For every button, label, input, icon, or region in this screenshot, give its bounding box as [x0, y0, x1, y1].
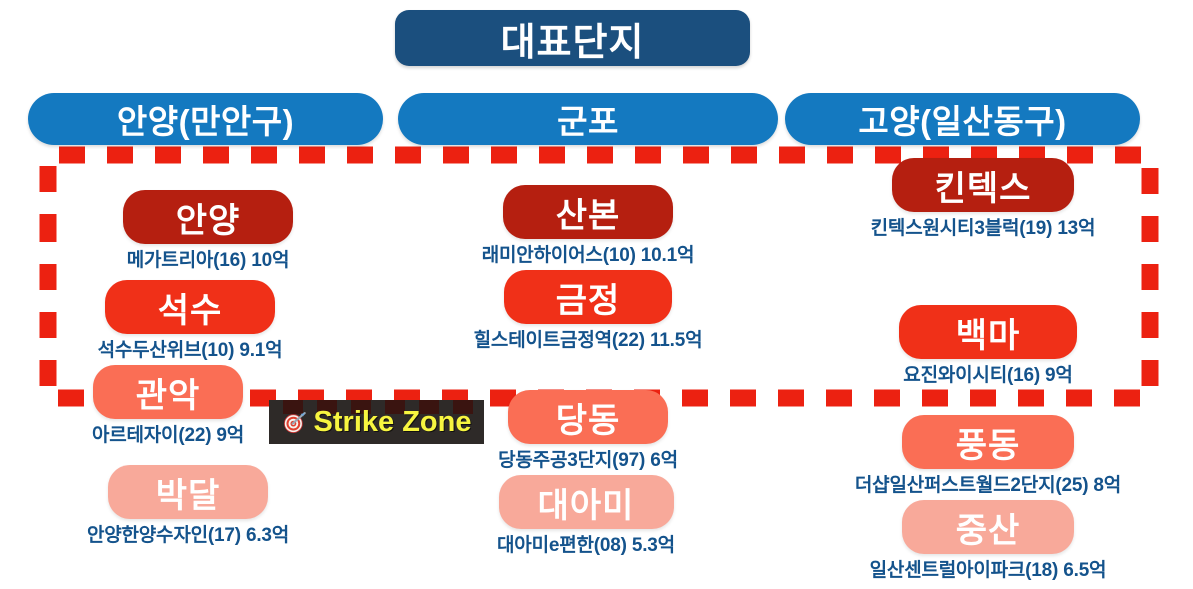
district-pill: 당동 — [508, 390, 668, 444]
district-label: 당동 — [556, 393, 621, 442]
district-pill: 중산 — [902, 500, 1074, 554]
entry-card: 킨텍스 킨텍스원시티3블럭(19) 13억 — [788, 158, 1168, 240]
entry-card: 금정 힐스테이트금정역(22) 11.5억 — [398, 270, 778, 352]
district-pill: 백마 — [899, 305, 1077, 359]
complex-caption: 안양한양수자인(17) 6.3억 — [87, 520, 289, 547]
complex-caption: 더샵일산퍼스트월드2단지(25) 8억 — [855, 470, 1121, 497]
district-pill: 킨텍스 — [892, 158, 1074, 212]
column-header-label: 고양(일산동구) — [858, 95, 1066, 143]
complex-caption: 메가트리아(16) 10억 — [127, 245, 289, 272]
complex-caption: 래미안하이어스(10) 10.1억 — [482, 240, 695, 267]
district-label: 석수 — [158, 283, 223, 332]
district-label: 킨텍스 — [935, 161, 1032, 210]
complex-caption: 힐스테이트금정역(22) 11.5억 — [474, 325, 703, 352]
district-pill: 금정 — [504, 270, 672, 324]
entry-card: 박달 안양한양수자인(17) 6.3억 — [18, 465, 398, 547]
complex-caption: 킨텍스원시티3블럭(19) 13억 — [871, 213, 1096, 240]
entry-card: 풍동 더샵일산퍼스트월드2단지(25) 8억 — [788, 415, 1168, 497]
page-title: 대표단지 — [395, 10, 750, 66]
columns-container: 안양 메가트리아(16) 10억 석수 석수두산위브(10) 9.1억 관악 아… — [0, 150, 1193, 589]
district-pill: 풍동 — [902, 415, 1074, 469]
complex-caption: 당동주공3단지(97) 6억 — [498, 445, 678, 472]
district-label: 대아미 — [538, 478, 635, 527]
complex-caption: 석수두산위브(10) 9.1억 — [98, 335, 283, 362]
entry-card: 석수 석수두산위브(10) 9.1억 — [18, 280, 398, 362]
complex-caption: 요진와이시티(16) 9억 — [903, 360, 1072, 387]
district-label: 풍동 — [956, 418, 1021, 467]
dart-target-icon — [282, 409, 308, 435]
entry-card: 안양 메가트리아(16) 10억 — [18, 190, 398, 272]
district-label: 박달 — [156, 468, 221, 517]
district-pill: 관악 — [93, 365, 243, 419]
entry-card: 산본 래미안하이어스(10) 10.1억 — [398, 185, 778, 267]
district-label: 산본 — [556, 188, 621, 237]
district-label: 백마 — [956, 308, 1021, 357]
district-label: 금정 — [556, 273, 621, 322]
district-label: 안양 — [176, 193, 241, 242]
complex-caption: 아르테자이(22) 9억 — [92, 420, 244, 447]
strike-zone-watermark: Strike Zone — [269, 400, 484, 444]
complex-caption: 대아미e편한(08) 5.3억 — [497, 530, 675, 557]
district-pill: 산본 — [503, 185, 673, 239]
district-label: 중산 — [956, 503, 1021, 552]
district-pill: 대아미 — [499, 475, 674, 529]
column-header-goyang: 고양(일산동구) — [785, 93, 1140, 145]
column-header-gunpo: 군포 — [398, 93, 778, 145]
infographic-canvas: 대표단지 안양(만안구) 군포 고양(일산동구) 안양 메가트리아(16) 10… — [0, 0, 1193, 589]
strike-zone-label: Strike Zone — [314, 406, 472, 439]
district-pill: 석수 — [105, 280, 275, 334]
complex-caption: 일산센트럴아이파크(18) 6.5억 — [870, 555, 1107, 582]
column-header-anyang: 안양(만안구) — [28, 93, 383, 145]
entry-card: 백마 요진와이시티(16) 9억 — [788, 305, 1168, 387]
district-pill: 박달 — [108, 465, 268, 519]
entry-card: 중산 일산센트럴아이파크(18) 6.5억 — [788, 500, 1168, 582]
page-title-label: 대표단지 — [501, 11, 645, 66]
column-header-label: 안양(만안구) — [117, 95, 294, 143]
column-header-label: 군포 — [557, 95, 619, 143]
district-pill: 안양 — [123, 190, 293, 244]
entry-card: 대아미 대아미e편한(08) 5.3억 — [398, 475, 778, 557]
district-label: 관악 — [136, 368, 201, 417]
